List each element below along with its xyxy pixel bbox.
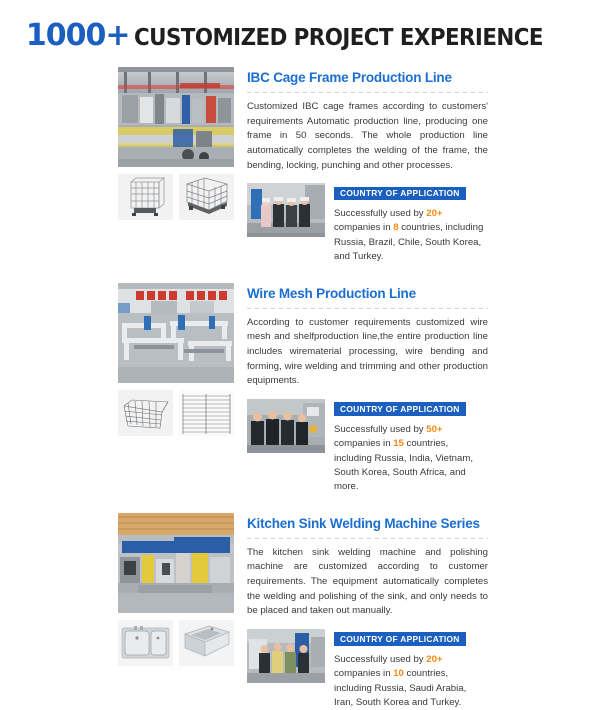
title-divider	[247, 538, 488, 539]
product-section-kitchen-sink-welding: Kitchen Sink Welding Machine Series The …	[0, 513, 600, 710]
country-count: 15	[393, 438, 404, 449]
application-block: COUNTRY OF APPLICATION Successfully used…	[247, 399, 488, 495]
section-media-column	[118, 283, 234, 495]
section-title: IBC Cage Frame Production Line	[247, 70, 488, 86]
product-thumbnail[interactable]	[118, 390, 173, 436]
application-photo[interactable]	[247, 399, 325, 453]
company-count: 20+	[426, 208, 442, 219]
app-text-prefix: Successfully used by	[334, 208, 426, 219]
main-product-photo[interactable]	[118, 283, 234, 383]
experience-count: 1000+	[26, 18, 130, 53]
product-showcase-page: 1000+CUSTOMIZED PROJECT EXPERIENCE	[0, 0, 600, 600]
product-thumbnail[interactable]	[179, 620, 234, 666]
product-thumbnail[interactable]	[118, 620, 173, 666]
application-text: COUNTRY OF APPLICATION Successfully used…	[325, 183, 488, 265]
title-divider	[247, 92, 488, 93]
product-thumbnail[interactable]	[179, 390, 234, 436]
section-title: Wire Mesh Production Line	[247, 286, 488, 302]
page-title-text: CUSTOMIZED PROJECT EXPERIENCE	[134, 25, 543, 51]
section-title: Kitchen Sink Welding Machine Series	[247, 516, 488, 532]
app-text-prefix: Successfully used by	[334, 654, 426, 665]
section-description: The kitchen sink welding machine and pol…	[247, 546, 488, 619]
main-product-photo[interactable]	[118, 67, 234, 167]
app-text-middle: companies in	[334, 222, 393, 233]
section-description: According to customer requirements custo…	[247, 316, 488, 389]
application-description: Successfully used by 20+ companies in 8 …	[334, 207, 488, 265]
product-thumbnail-row	[118, 390, 234, 436]
application-block: COUNTRY OF APPLICATION Successfully used…	[247, 183, 488, 265]
status-badge: COUNTRY OF APPLICATION	[334, 402, 466, 415]
section-description: Customized IBC cage frames according to …	[247, 100, 488, 173]
application-text: COUNTRY OF APPLICATION Successfully used…	[325, 399, 488, 495]
application-photo[interactable]	[247, 629, 325, 683]
company-count: 50+	[426, 424, 442, 435]
product-section-ibc-cage-frame: IBC Cage Frame Production Line Customize…	[0, 67, 600, 265]
main-product-photo[interactable]	[118, 513, 234, 613]
page-header: 1000+CUSTOMIZED PROJECT EXPERIENCE	[0, 0, 600, 67]
app-text-middle: companies in	[334, 438, 393, 449]
section-content-column: Kitchen Sink Welding Machine Series The …	[234, 513, 488, 710]
page-title: 1000+CUSTOMIZED PROJECT EXPERIENCE	[26, 18, 574, 53]
product-thumbnail[interactable]	[118, 174, 173, 220]
product-thumbnail-row	[118, 620, 234, 666]
product-thumbnail-row	[118, 174, 234, 220]
section-media-column	[118, 67, 234, 265]
country-count: 10	[393, 668, 404, 679]
app-text-prefix: Successfully used by	[334, 424, 426, 435]
application-block: COUNTRY OF APPLICATION Successfully used…	[247, 629, 488, 710]
status-badge: COUNTRY OF APPLICATION	[334, 632, 466, 645]
company-count: 20+	[426, 654, 442, 665]
application-description: Successfully used by 20+ companies in 10…	[334, 653, 488, 710]
application-text: COUNTRY OF APPLICATION Successfully used…	[325, 629, 488, 710]
product-thumbnail[interactable]	[179, 174, 234, 220]
section-media-column	[118, 513, 234, 710]
application-photo[interactable]	[247, 183, 325, 237]
product-section-wire-mesh: Wire Mesh Production Line According to c…	[0, 283, 600, 495]
title-divider	[247, 308, 488, 309]
status-badge: COUNTRY OF APPLICATION	[334, 187, 466, 200]
app-text-middle: companies in	[334, 668, 393, 679]
section-content-column: IBC Cage Frame Production Line Customize…	[234, 67, 488, 265]
application-description: Successfully used by 50+ companies in 15…	[334, 423, 488, 495]
section-content-column: Wire Mesh Production Line According to c…	[234, 283, 488, 495]
